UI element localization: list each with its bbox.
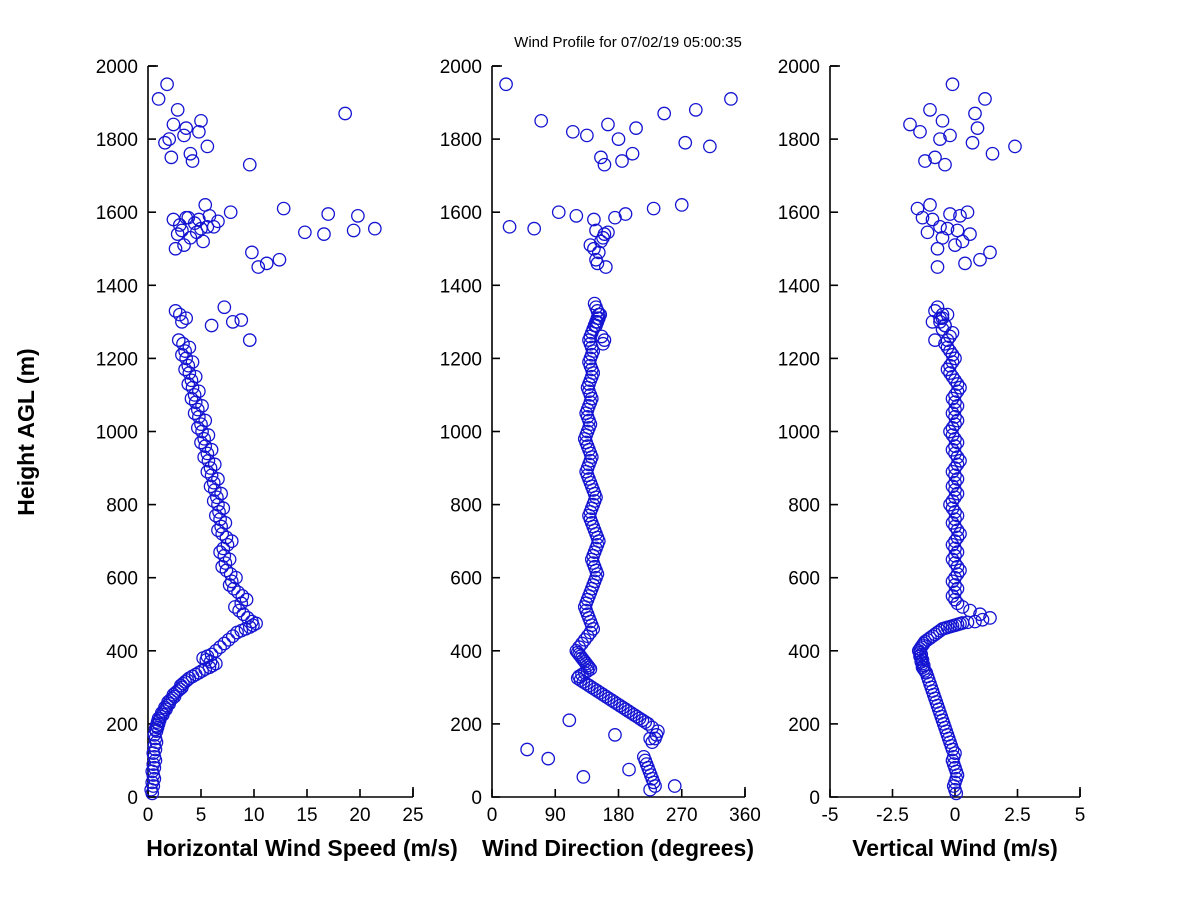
figure-background (0, 0, 1200, 900)
y-tick-label: 1000 (96, 423, 138, 444)
x-axis-label: Wind Direction (degrees) (482, 835, 754, 861)
x-tick-label: 0 (487, 805, 498, 826)
x-tick-label: 25 (402, 805, 423, 826)
x-axis-label: Horizontal Wind Speed (m/s) (146, 835, 458, 861)
x-tick-label: 360 (729, 805, 761, 826)
x-tick-label: 180 (603, 805, 635, 826)
y-tick-label: 1000 (440, 423, 482, 444)
y-tick-label: 0 (471, 788, 482, 809)
y-tick-label: 1600 (778, 203, 820, 224)
y-tick-label: 800 (106, 496, 138, 517)
x-tick-label: 20 (349, 805, 370, 826)
y-tick-label: 200 (106, 715, 138, 736)
y-tick-label: 2000 (778, 57, 820, 78)
y-tick-label: 200 (450, 715, 482, 736)
x-tick-label: 2.5 (1004, 805, 1030, 826)
x-tick-label: 0 (950, 805, 961, 826)
y-tick-label: 1800 (440, 130, 482, 151)
x-tick-label: 0 (143, 805, 154, 826)
y-tick-label: 800 (450, 496, 482, 517)
y-tick-label: 1800 (96, 130, 138, 151)
y-tick-label: 1800 (778, 130, 820, 151)
x-tick-label: -5 (822, 805, 839, 826)
x-tick-label: -2.5 (876, 805, 909, 826)
x-tick-label: 15 (296, 805, 317, 826)
y-tick-label: 2000 (96, 57, 138, 78)
page-title: Wind Profile for 07/02/19 05:00:35 (514, 34, 742, 51)
y-tick-label: 0 (809, 788, 820, 809)
x-tick-label: 90 (545, 805, 566, 826)
y-tick-label: 1200 (440, 349, 482, 370)
y-tick-label: 600 (788, 569, 820, 590)
y-tick-label: 600 (106, 569, 138, 590)
x-tick-label: 270 (666, 805, 698, 826)
y-tick-label: 1600 (96, 203, 138, 224)
y-tick-label: 1600 (440, 203, 482, 224)
y-tick-label: 1400 (440, 276, 482, 297)
y-tick-label: 200 (788, 715, 820, 736)
y-tick-label: 1400 (96, 276, 138, 297)
y-tick-label: 800 (788, 496, 820, 517)
x-tick-label: 5 (1075, 805, 1086, 826)
y-tick-label: 1200 (96, 349, 138, 370)
y-tick-label: 400 (106, 642, 138, 663)
x-axis-label: Vertical Wind (m/s) (852, 835, 1058, 861)
x-tick-label: 10 (243, 805, 264, 826)
y-tick-label: 600 (450, 569, 482, 590)
y-tick-label: 400 (450, 642, 482, 663)
y-tick-label: 0 (127, 788, 138, 809)
x-tick-label: 5 (196, 805, 207, 826)
figure-canvas: Wind Profile for 07/02/19 05:00:35 Heigh… (0, 0, 1200, 900)
y-tick-label: 2000 (440, 57, 482, 78)
y-tick-label: 400 (788, 642, 820, 663)
y-tick-label: 1200 (778, 349, 820, 370)
y-axis-label: Height AGL (m) (13, 348, 39, 515)
wind-profile-figure: Wind Profile for 07/02/19 05:00:35 Heigh… (0, 0, 1200, 900)
y-tick-label: 1000 (778, 423, 820, 444)
y-tick-label: 1400 (778, 276, 820, 297)
